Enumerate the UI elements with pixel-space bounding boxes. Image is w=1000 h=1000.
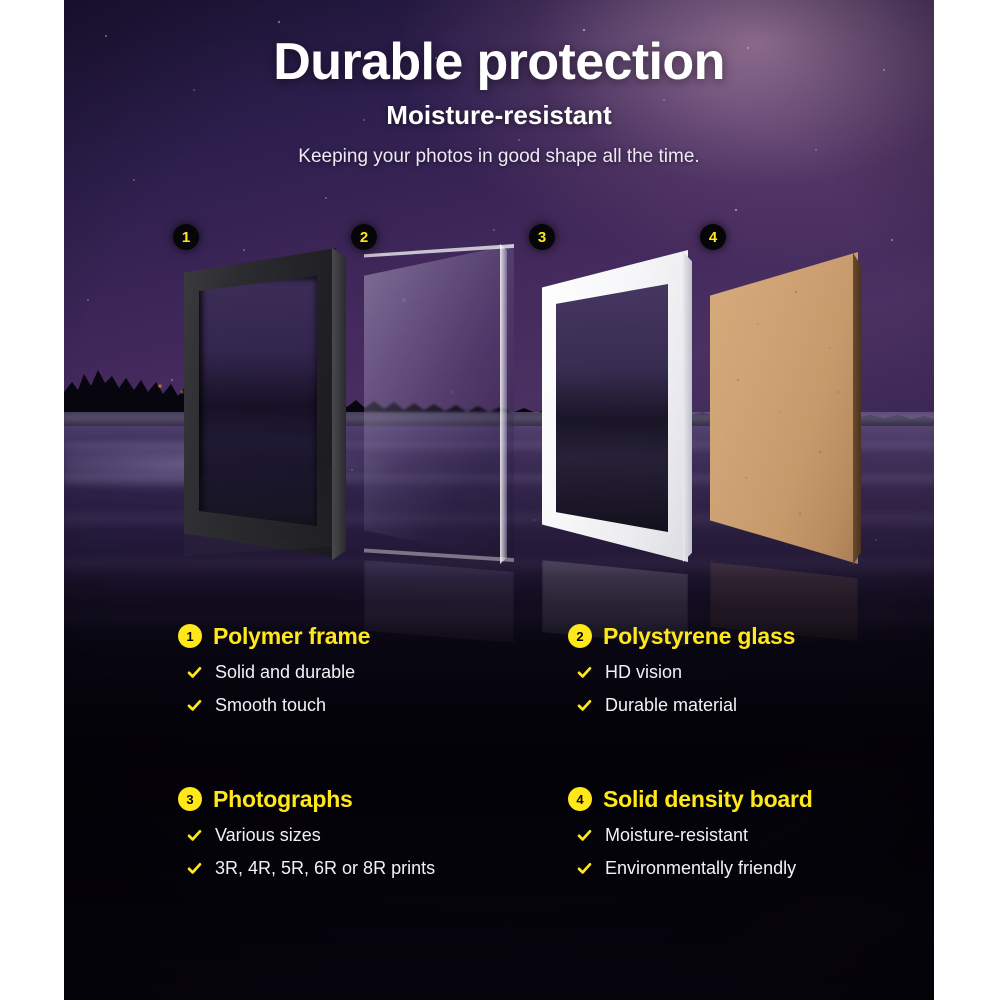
check-icon <box>187 698 202 713</box>
callout-badge-2: 2 <box>351 224 377 250</box>
header: Durable protection Moisture-resistant Ke… <box>64 0 934 166</box>
board-face <box>710 252 858 564</box>
feature-2-item-2-text: Durable material <box>605 696 737 714</box>
mat-opening <box>556 284 668 532</box>
feature-badge-4: 4 <box>568 787 592 811</box>
feature-2-item-2: Durable material <box>568 696 795 714</box>
feature-4-title: Solid density board <box>603 788 813 811</box>
feature-3-item-1: Various sizes <box>178 826 435 844</box>
board-side-edge <box>853 253 861 565</box>
feature-1-item-2-text: Smooth touch <box>215 696 326 714</box>
mat-side-edge <box>683 252 692 562</box>
feature-3-item-2-text: 3R, 4R, 5R, 6R or 8R prints <box>215 859 435 877</box>
check-icon <box>577 698 592 713</box>
check-icon <box>577 861 592 876</box>
callout-badge-3: 3 <box>529 224 555 250</box>
feature-1-item-2: Smooth touch <box>178 696 370 714</box>
check-icon <box>577 828 592 843</box>
feature-block-3: 3 Photographs Various sizes 3R, 4R, 5R, … <box>178 787 435 877</box>
callout-badge-1: 1 <box>173 224 199 250</box>
page-title: Durable protection <box>64 36 934 88</box>
feature-3-item-1-text: Various sizes <box>215 826 321 844</box>
feature-1-item-1-text: Solid and durable <box>215 663 355 681</box>
feature-1-item-1: Solid and durable <box>178 663 370 681</box>
page-tagline: Keeping your photos in good shape all th… <box>64 147 934 166</box>
product-infographic: Durable protection Moisture-resistant Ke… <box>0 0 1000 1000</box>
feature-block-2: 2 Polystyrene glass HD vision Durable ma… <box>568 624 795 714</box>
check-icon <box>187 665 202 680</box>
solid-density-board-panel <box>710 252 858 564</box>
feature-3-title: Photographs <box>213 788 353 811</box>
feature-3-item-2: 3R, 4R, 5R, 6R or 8R prints <box>178 859 435 877</box>
feature-1-title: Polymer frame <box>213 625 370 648</box>
feature-2-item-1-text: HD vision <box>605 663 682 681</box>
glass-face <box>364 244 514 562</box>
feature-1-header: 1 Polymer frame <box>178 624 370 648</box>
feature-3-header: 3 Photographs <box>178 787 435 811</box>
feature-2-title: Polystyrene glass <box>603 625 795 648</box>
feature-badge-3: 3 <box>178 787 202 811</box>
callout-badge-4: 4 <box>700 224 726 250</box>
polystyrene-glass-panel <box>364 244 514 562</box>
check-icon <box>577 665 592 680</box>
feature-block-1: 1 Polymer frame Solid and durable Smooth… <box>178 624 370 714</box>
page-subtitle: Moisture-resistant <box>64 102 934 128</box>
check-icon <box>187 828 202 843</box>
check-icon <box>187 861 202 876</box>
feature-4-item-1: Moisture-resistant <box>568 826 813 844</box>
photograph-mat-panel <box>542 250 688 562</box>
feature-4-item-2: Environmentally friendly <box>568 859 813 877</box>
feature-block-4: 4 Solid density board Moisture-resistant… <box>568 787 813 877</box>
feature-4-item-2-text: Environmentally friendly <box>605 859 796 877</box>
feature-2-header: 2 Polystyrene glass <box>568 624 795 648</box>
feature-2-item-1: HD vision <box>568 663 795 681</box>
feature-4-header: 4 Solid density board <box>568 787 813 811</box>
feature-badge-2: 2 <box>568 624 592 648</box>
glass-side-edge <box>500 244 507 564</box>
feature-4-item-1-text: Moisture-resistant <box>605 826 748 844</box>
feature-badge-1: 1 <box>178 624 202 648</box>
